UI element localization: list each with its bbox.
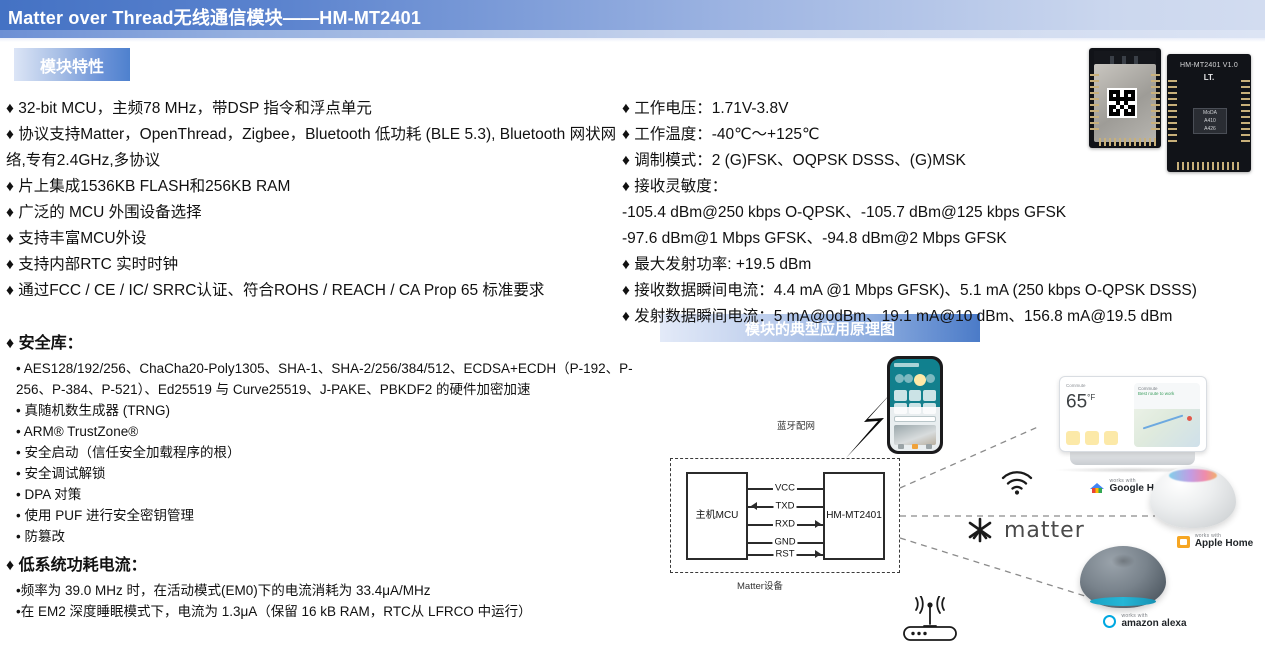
- module-pins-bottom: [1099, 138, 1156, 146]
- spec-value: -105.4 dBm@250 kbps O-QPSK、-105.7 dBm@12…: [622, 200, 1262, 226]
- spec-item: ♦ 最大发射功率: +19.5 dBm: [622, 252, 1262, 278]
- hub-temperature: 65°F: [1066, 388, 1128, 412]
- module-pins-left: [1090, 74, 1099, 134]
- security-item: • 防篡改: [6, 526, 666, 547]
- diagram-caption-matter-device: Matter设备: [737, 578, 783, 592]
- module-photo-shielded: [1089, 48, 1161, 148]
- security-section: ♦ 安全库： • AES128/192/256、ChaCha20-Poly130…: [6, 330, 666, 547]
- matter-mark-icon: [965, 516, 995, 544]
- module-pins-left: [1168, 80, 1177, 146]
- block-host-mcu: 主机MCU: [686, 472, 748, 560]
- chip-line-3: A426: [1194, 125, 1226, 133]
- power-section: ♦ 低系统功耗电流： •频率为 39.0 MHz 时，在活动模式(EM0)下的电…: [6, 552, 666, 622]
- signal-label-rst: RST: [774, 549, 797, 560]
- application-diagram: 主机MCU HM-MT2401 VCC TXD RXD GND RST Matt…: [655, 348, 1265, 650]
- brand-amazon-alexa: works with amazon alexa: [1080, 614, 1210, 629]
- qr-code-icon: [1107, 88, 1137, 118]
- header-underline-fade: [0, 38, 1265, 42]
- security-item: • 使用 PUF 进行安全密钥管理: [6, 505, 666, 526]
- hub-map-thumbnail: [1134, 409, 1200, 447]
- feature-item: ♦ 支持内部RTC 实时时钟: [6, 252, 620, 278]
- power-item: •频率为 39.0 MHz 时，在活动模式(EM0)下的电流消耗为 33.4μA…: [6, 580, 666, 601]
- power-item: •在 EM2 深度睡眠模式下，电流为 1.3μA（保留 16 kB RAM，RT…: [6, 601, 666, 622]
- spec-value: -97.6 dBm@1 Mbps GFSK、-94.8 dBm@2 Mbps G…: [622, 226, 1262, 252]
- feature-item: ♦ 支持丰富MCU外设: [6, 226, 620, 252]
- feature-item: ♦ 广泛的 MCU 外围设备选择: [6, 200, 620, 226]
- hub-quick-tiles: [1066, 431, 1118, 445]
- module-photos: HM-MT2401 V1.0 LT. MoDA A410 A426: [1085, 48, 1255, 188]
- echo-top-dimple: [1111, 554, 1135, 568]
- signal-label-vcc: VCC: [773, 483, 797, 494]
- phone-screen: [890, 359, 940, 451]
- security-item: • DPA 对策: [6, 484, 666, 505]
- chip-line-2: A410: [1194, 117, 1226, 125]
- arrow-rst-to-module: [815, 550, 821, 558]
- module-silk-brand: LT.: [1167, 73, 1251, 82]
- feature-item: ♦ 32-bit MCU，主频78 MHz，带DSP 指令和浮点单元: [6, 96, 620, 122]
- hub-stand: [1070, 452, 1195, 465]
- arrow-rxd-to-module: [815, 520, 821, 528]
- feature-item: ♦ 协议支持Matter，OpenThread，Zigbee，Bluetooth…: [6, 122, 620, 174]
- page-header: Matter over Thread无线通信模块——HM-MT2401: [0, 0, 1265, 30]
- security-title: ♦ 安全库：: [6, 330, 666, 358]
- signal-label-txd: TXD: [774, 501, 797, 512]
- google-home-icon: [1090, 481, 1104, 493]
- router-icon: [900, 596, 960, 644]
- page-title: Matter over Thread无线通信模块——HM-MT2401: [8, 4, 421, 30]
- signal-label-rxd: RXD: [773, 519, 797, 530]
- alexa-ring-icon: [1103, 615, 1116, 628]
- module-chip-marking: MoDA A410 A426: [1193, 108, 1227, 134]
- module-photo-silkscreen: HM-MT2401 V1.0 LT. MoDA A410 A426: [1167, 54, 1251, 172]
- wifi-icon: [1000, 470, 1034, 496]
- slide-root: Matter over Thread无线通信模块——HM-MT2401 模块特性…: [0, 0, 1265, 650]
- matter-wordmark-text: matter: [1004, 518, 1085, 543]
- block-hm-mt2401: HM-MT2401: [823, 472, 885, 560]
- homepod-touch-surface: [1169, 469, 1217, 482]
- security-item: • AES128/192/256、ChaCha20-Poly1305、SHA-1…: [6, 358, 666, 400]
- features-left-column: ♦ 32-bit MCU，主频78 MHz，带DSP 指令和浮点单元 ♦ 协议支…: [6, 96, 620, 304]
- ble-provision-label: 蓝牙配网: [777, 418, 815, 432]
- module-pins-right: [1151, 74, 1160, 134]
- chip-line-1: MoDA: [1194, 109, 1226, 117]
- spec-item: ♦ 发射数据瞬间电流：5 mA@0dBm、19.1 mA@10 dBm、156.…: [622, 304, 1262, 330]
- arrow-txd-to-mcu: [751, 502, 757, 510]
- hub-commute-card: Commute Best route to work: [1134, 383, 1200, 447]
- spec-item: ♦ 接收数据瞬间电流：4.4 mA @1 Mbps GFSK)、5.1 mA (…: [622, 278, 1262, 304]
- echo-light-ring: [1090, 597, 1155, 606]
- security-item: • 真随机数生成器 (TRNG): [6, 400, 666, 421]
- feature-item: ♦ 通过FCC / CE / IC/ SRRC认证、符合ROHS / REACH…: [6, 278, 620, 304]
- security-item: • 安全启动（信任安全加载程序的根）: [6, 442, 666, 463]
- homepod-body: [1150, 466, 1236, 528]
- module-silk-part-number: HM-MT2401 V1.0: [1167, 62, 1251, 69]
- signal-label-gnd: GND: [772, 537, 797, 548]
- smartphone-app-mockup: [887, 356, 943, 454]
- device-amazon-echo-dot: works with amazon alexa: [1080, 546, 1210, 629]
- hub-card-title: Commute: [1134, 383, 1200, 391]
- module-pins-bottom: [1177, 162, 1239, 170]
- brand-name: amazon alexa: [1121, 619, 1186, 629]
- hub-card-subtitle: Best route to work: [1134, 391, 1200, 398]
- security-item: • 安全调试解锁: [6, 463, 666, 484]
- matter-logo: matter: [965, 516, 1085, 544]
- echo-body: [1080, 546, 1166, 608]
- hub-display: Commute 65°F Commute Best route to work: [1059, 376, 1207, 452]
- module-pins-right: [1241, 80, 1250, 146]
- header-underline: [0, 30, 1265, 38]
- section-badge-features: 模块特性: [14, 48, 130, 81]
- security-item: • ARM® TrustZone®: [6, 421, 666, 442]
- device-apple-homepod-mini: works with Apple Home: [1150, 466, 1265, 549]
- power-title: ♦ 低系统功耗电流：: [6, 552, 666, 580]
- feature-item: ♦ 片上集成1536KB FLASH和256KB RAM: [6, 174, 620, 200]
